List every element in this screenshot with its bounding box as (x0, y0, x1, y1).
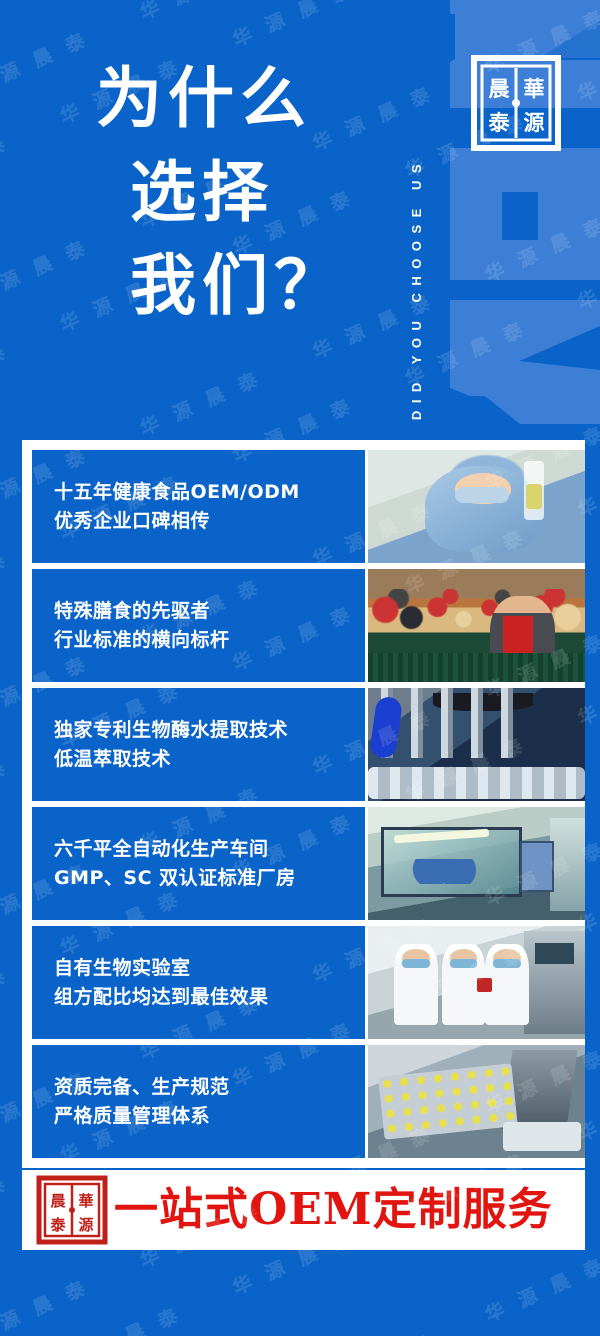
svg-text:源: 源 (524, 110, 545, 135)
bottom-banner: 晨 泰 華 源 一站式OEM定制服务 (22, 1170, 585, 1250)
svg-text:泰: 泰 (49, 1216, 66, 1234)
benefit-line-2: 严格质量管理体系 (54, 1104, 365, 1128)
benefit-card[interactable]: 自有生物实验室 组方配比均达到最佳效果 (32, 926, 585, 1039)
banner-seal-icon: 晨 泰 華 源 (36, 1175, 108, 1245)
watermark-text: 华 源 晨 泰 (0, 960, 13, 1038)
svg-text:晨: 晨 (50, 1192, 66, 1210)
headline-line-2: 选择 (96, 146, 396, 240)
benefit-card[interactable]: 独家专利生物酶水提取技术 低温萃取技术 (32, 688, 585, 801)
poster-header: 为什么 选择 我们？ DID YOU CHOOSE US 晨 泰 華 源 (0, 0, 600, 440)
benefit-line-2: 组方配比均达到最佳效果 (54, 985, 365, 1009)
watermark-text: 华 源 晨 泰 (55, 1299, 186, 1336)
vertical-caption: DID YOU CHOOSE US (404, 10, 428, 420)
svg-text:泰: 泰 (488, 110, 511, 135)
svg-text:華: 華 (78, 1192, 93, 1210)
benefit-line-1: 自有生物实验室 (54, 956, 365, 980)
benefit-line-2: 行业标准的横向标杆 (54, 628, 365, 652)
vertical-caption-label: DID YOU CHOOSE US (409, 157, 424, 420)
headline-line-3: 我们？ (96, 239, 396, 333)
watermark-text: 华 源 晨 泰 (0, 544, 13, 622)
benefit-line-1: 独家专利生物酶水提取技术 (54, 718, 365, 742)
watermark-text: 华 源 晨 泰 (308, 1327, 439, 1336)
benefit-card-text: 特殊膳食的先驱者 行业标准的横向标杆 (32, 569, 365, 682)
benefit-line-1: 十五年健康食品OEM/ODM (54, 480, 365, 504)
svg-text:華: 華 (524, 76, 545, 101)
benefit-card-image (368, 926, 585, 1039)
benefit-card-image (368, 450, 585, 563)
brand-seal-icon: 晨 泰 華 源 (470, 52, 562, 154)
svg-text:源: 源 (78, 1216, 93, 1234)
benefit-card-text: 六千平全自动化生产车间 GMP、SC 双认证标准厂房 (32, 807, 365, 920)
svg-text:晨: 晨 (489, 76, 511, 101)
page-title: 为什么 选择 我们？ (96, 52, 396, 333)
watermark-text: 华 源 晨 泰 (0, 1168, 13, 1246)
benefit-card[interactable]: 特殊膳食的先驱者 行业标准的横向标杆 (32, 569, 585, 682)
benefit-card[interactable]: 六千平全自动化生产车间 GMP、SC 双认证标准厂房 (32, 807, 585, 920)
benefit-card[interactable]: 十五年健康食品OEM/ODM 优秀企业口碑相传 (32, 450, 585, 563)
benefit-card-text: 自有生物实验室 组方配比均达到最佳效果 (32, 926, 365, 1039)
benefit-card-image (368, 807, 585, 920)
headline-line-1: 为什么 (96, 52, 396, 146)
benefit-line-2: 低温萃取技术 (54, 747, 365, 771)
banner-title: 一站式OEM定制服务 (114, 1188, 553, 1232)
benefit-card-text: 独家专利生物酶水提取技术 低温萃取技术 (32, 688, 365, 801)
benefit-card-text: 资质完备、生产规范 严格质量管理体系 (32, 1045, 365, 1158)
watermark-text: 华 源 晨 泰 (480, 1250, 600, 1328)
benefit-line-1: 六千平全自动化生产车间 (54, 837, 365, 861)
benefit-card-image (368, 688, 585, 801)
benefit-card[interactable]: 资质完备、生产规范 严格质量管理体系 (32, 1045, 585, 1158)
poster-root: 为什么 选择 我们？ DID YOU CHOOSE US 晨 泰 華 源 (0, 0, 600, 1336)
benefit-line-2: 优秀企业口碑相传 (54, 509, 365, 533)
benefit-card-text: 十五年健康食品OEM/ODM 优秀企业口碑相传 (32, 450, 365, 563)
benefits-card-list: 十五年健康食品OEM/ODM 优秀企业口碑相传 特殊膳食的先驱者 行业标准的横向… (32, 450, 585, 1164)
benefit-line-1: 资质完备、生产规范 (54, 1075, 365, 1099)
benefit-line-1: 特殊膳食的先驱者 (54, 599, 365, 623)
benefit-line-2: GMP、SC 双认证标准厂房 (54, 866, 365, 890)
benefit-card-image (368, 1045, 585, 1158)
watermark-text: 华 源 晨 泰 (0, 1272, 93, 1336)
watermark-text: 华 源 晨 泰 (0, 752, 13, 830)
benefit-card-image (368, 569, 585, 682)
